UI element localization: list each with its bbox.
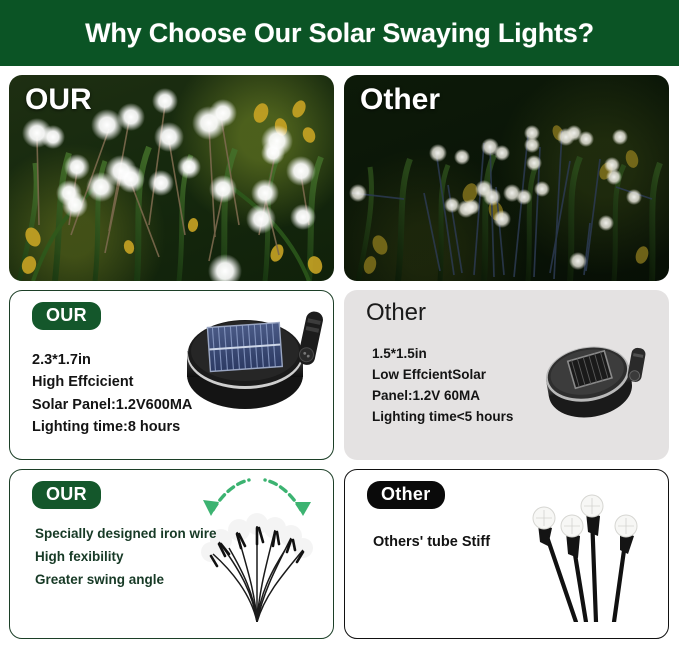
feature-list-our: Specially designed iron wire High fexibi… xyxy=(35,522,217,592)
spec-line: Lighting time<5 hours xyxy=(372,407,513,428)
comparison-grid: OUR xyxy=(0,66,679,648)
spec-line: Low EffcientSolar xyxy=(372,365,513,386)
flex-card-our: OUR xyxy=(9,469,334,639)
spec-cell-other: Other xyxy=(344,290,669,460)
spec-row: OUR xyxy=(9,290,670,460)
spec-list-other: 1.5*1.5in Low EffcientSolar Panel:1.2V 6… xyxy=(372,344,513,428)
spec-line: Lighting time:8 hours xyxy=(32,416,192,438)
photo-other: Other xyxy=(344,75,669,281)
photo-cell-other: Other xyxy=(344,75,669,281)
spec-list-our: 2.3*1.7in High Effcicient Solar Panel:1.… xyxy=(32,349,192,439)
stiff-tube-lights-illustration xyxy=(514,492,654,622)
feature-line: High fexibility xyxy=(35,545,217,568)
spec-line: 1.5*1.5in xyxy=(372,344,513,365)
spec-card-our: OUR xyxy=(9,290,334,460)
flexibility-row: OUR xyxy=(9,469,670,639)
spec-line: High Effcicient xyxy=(32,371,192,393)
flex-cell-other: Other xyxy=(344,469,669,639)
flex-cell-our: OUR xyxy=(9,469,334,639)
feature-line: Specially designed iron wire xyxy=(35,522,217,545)
page-title: Why Choose Our Solar Swaying Lights? xyxy=(85,18,594,49)
flex-card-other: Other xyxy=(344,469,669,639)
photo-row: OUR xyxy=(9,75,670,281)
solar-panel-large-illustration xyxy=(183,303,329,425)
photo-cell-our: OUR xyxy=(9,75,334,281)
heading-other: Other xyxy=(366,299,426,327)
spec-line: 2.3*1.7in xyxy=(32,349,192,371)
badge-other-flex: Other xyxy=(367,481,445,509)
solar-panel-small-illustration xyxy=(533,328,653,428)
feature-line-other: Others' tube Stiff xyxy=(373,534,490,550)
page-header: Why Choose Our Solar Swaying Lights? xyxy=(0,0,679,66)
spec-card-other: Other xyxy=(344,290,669,460)
photo-label-our: OUR xyxy=(25,83,92,117)
spec-line: Panel:1.2V 60MA xyxy=(372,386,513,407)
feature-line: Greater swing angle xyxy=(35,568,217,591)
spec-line: Solar Panel:1.2V600MA xyxy=(32,394,192,416)
spec-cell-our: OUR xyxy=(9,290,334,460)
badge-our-flex: OUR xyxy=(32,481,101,509)
badge-our: OUR xyxy=(32,302,101,330)
photo-label-other: Other xyxy=(360,83,440,117)
photo-our: OUR xyxy=(9,75,334,281)
